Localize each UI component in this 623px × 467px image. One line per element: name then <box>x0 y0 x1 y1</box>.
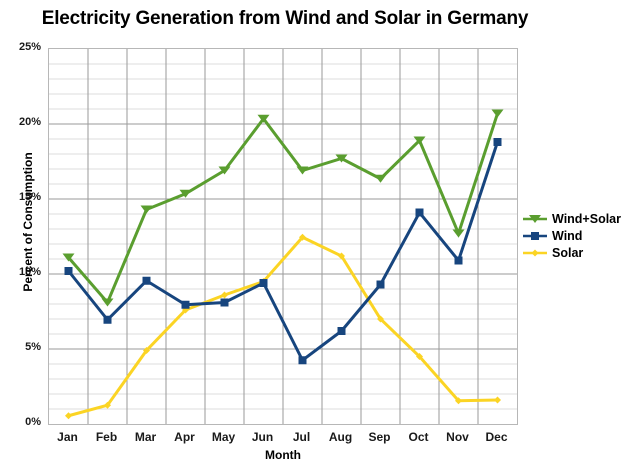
legend-item-solar[interactable]: Solar <box>522 244 621 261</box>
y-axis-title: Percent of Consumption <box>21 122 35 322</box>
legend-marker-icon <box>522 246 548 260</box>
chart-title: Electricity Generation from Wind and Sol… <box>0 8 570 30</box>
x-axis-title: Month <box>48 448 518 462</box>
legend-label: Solar <box>552 246 583 260</box>
y-tick-label: 25% <box>1 41 41 53</box>
plot-area <box>48 48 518 425</box>
legend-item-wind-solar[interactable]: Wind+Solar <box>522 210 621 227</box>
y-tick-label: 5% <box>1 341 41 353</box>
legend-label: Wind+Solar <box>552 212 621 226</box>
chart-container: Electricity Generation from Wind and Sol… <box>0 0 623 467</box>
legend-label: Wind <box>552 229 582 243</box>
legend-item-wind[interactable]: Wind <box>522 227 621 244</box>
chart-legend: Wind+SolarWindSolar <box>522 210 621 261</box>
x-tick-label: Dec <box>472 430 522 444</box>
legend-marker-icon <box>522 229 548 243</box>
y-tick-label: 0% <box>1 416 41 428</box>
plot-svg <box>49 49 517 424</box>
legend-marker-icon <box>522 212 548 226</box>
